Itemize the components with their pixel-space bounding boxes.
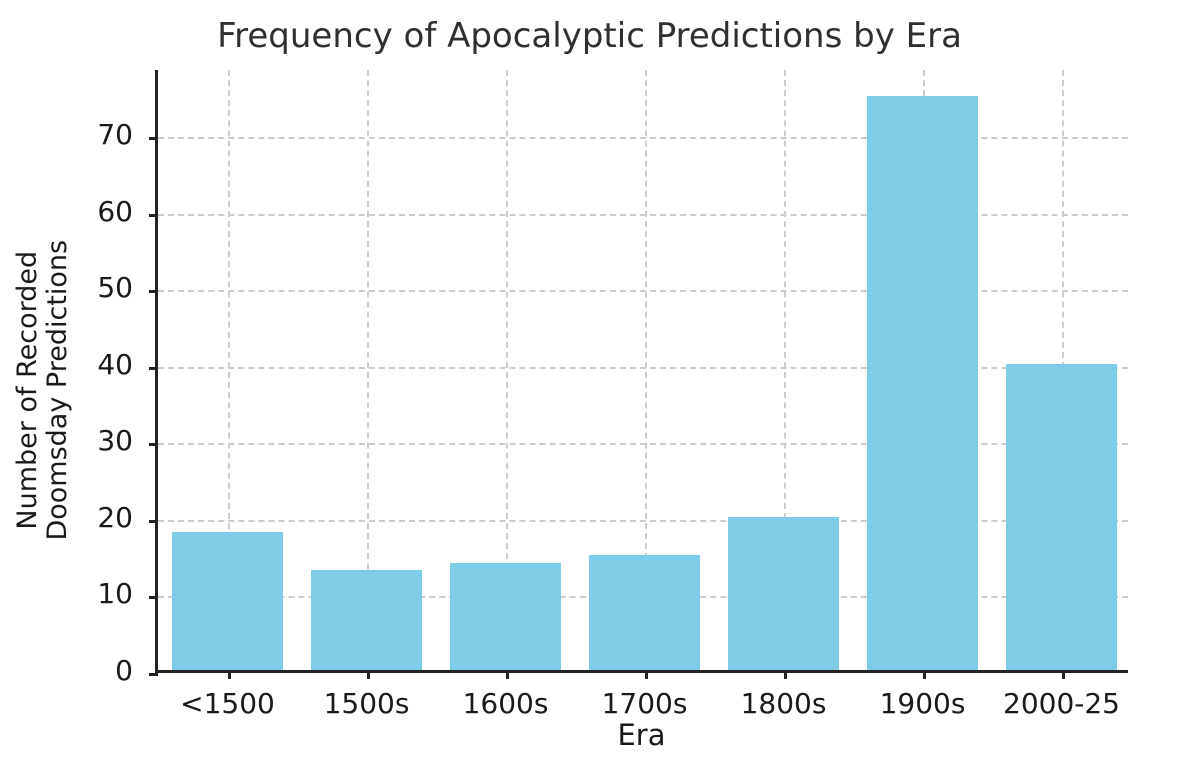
chart-title: Frequency of Apocalyptic Predictions by … xyxy=(0,16,1179,56)
bar xyxy=(1006,364,1117,670)
x-tick-mark xyxy=(506,670,509,679)
y-tick-mark xyxy=(149,137,158,140)
x-tick-label: 2000-25 xyxy=(1003,687,1120,720)
y-tick-label: 50 xyxy=(97,271,133,304)
x-tick-mark xyxy=(645,670,648,679)
x-tick-label: <1500 xyxy=(180,687,275,720)
bar xyxy=(172,532,283,670)
y-tick-mark xyxy=(149,443,158,446)
y-tick-mark xyxy=(149,367,158,370)
y-tick-mark xyxy=(149,673,158,676)
x-tick-mark xyxy=(923,670,926,679)
gridline-horizontal xyxy=(158,367,1128,369)
y-tick-label: 20 xyxy=(97,501,133,534)
x-tick-mark xyxy=(367,670,370,679)
y-tick-mark xyxy=(149,596,158,599)
x-tick-label: 1600s xyxy=(463,687,549,720)
x-tick-mark xyxy=(1062,670,1065,679)
y-tick-label: 70 xyxy=(97,118,133,151)
gridline-horizontal xyxy=(158,214,1128,216)
bar xyxy=(867,96,978,670)
y-tick-label: 40 xyxy=(97,348,133,381)
gridline-horizontal xyxy=(158,443,1128,445)
bar xyxy=(311,570,422,670)
y-tick-label: 60 xyxy=(97,195,133,228)
x-tick-mark xyxy=(228,670,231,679)
y-axis-title-line-2: Doomsday Predictions xyxy=(43,240,73,541)
y-tick-label: 0 xyxy=(115,654,133,687)
gridline-horizontal xyxy=(158,137,1128,139)
plot-area: 010203040506070 <15001500s1600s1700s1800… xyxy=(155,70,1128,673)
y-tick-mark xyxy=(149,290,158,293)
bar xyxy=(728,517,839,670)
x-tick-mark xyxy=(784,670,787,679)
y-tick-label: 10 xyxy=(97,577,133,610)
y-tick-label: 30 xyxy=(97,424,133,457)
bar-chart-figure: Frequency of Apocalyptic Predictions by … xyxy=(0,0,1179,780)
gridline-horizontal xyxy=(158,520,1128,522)
y-axis-title-line-1: Number of Recorded xyxy=(13,240,43,541)
x-tick-label: 1700s xyxy=(602,687,688,720)
bar xyxy=(589,555,700,670)
y-tick-mark xyxy=(149,214,158,217)
bar xyxy=(450,563,561,670)
x-tick-label: 1900s xyxy=(880,687,966,720)
y-tick-mark xyxy=(149,520,158,523)
x-axis-title: Era xyxy=(155,718,1128,752)
gridline-horizontal xyxy=(158,290,1128,292)
x-tick-label: 1800s xyxy=(741,687,827,720)
y-axis-title: Number of Recorded Doomsday Predictions xyxy=(0,0,88,780)
x-tick-label: 1500s xyxy=(324,687,410,720)
